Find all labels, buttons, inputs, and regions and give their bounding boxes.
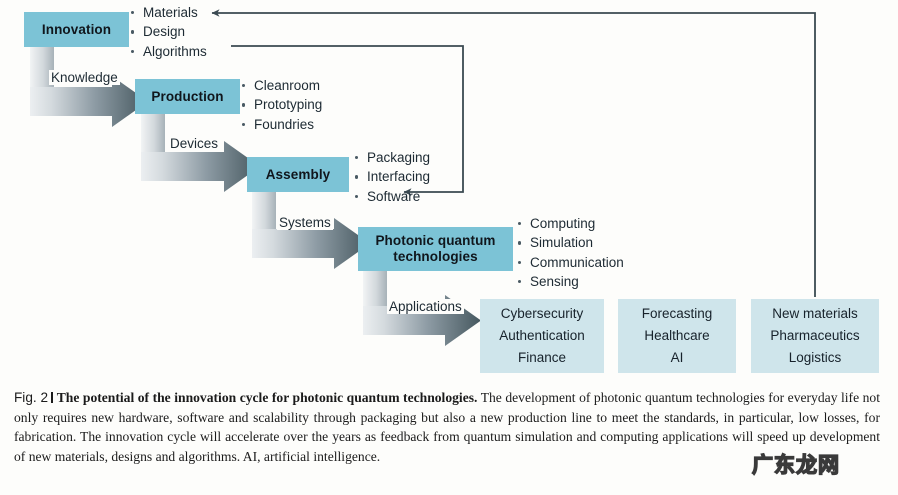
application-line: Pharmaceutics [770,325,859,347]
bullet-item: Design [131,22,207,41]
bullet-item: Materials [131,3,207,22]
application-box-forecasting[interactable]: Forecasting Healthcare AI [618,299,736,373]
application-line: Authentication [499,325,585,347]
stage-box-assembly[interactable]: Assembly [247,157,349,192]
application-line: Healthcare [644,325,709,347]
application-box-cybersecurity[interactable]: Cybersecurity Authentication Finance [480,299,604,373]
application-line: AI [671,347,684,369]
caption-lede: The potential of the innovation cycle fo… [57,390,478,405]
flow-label-applications: Applications [387,299,464,314]
stage-label-photonic-line1: Photonic quantum [375,233,495,249]
application-line: Cybersecurity [501,303,584,325]
bullet-item: Cleanroom [242,76,322,95]
bullet-list-photonic: Computing Simulation Communication Sensi… [518,214,624,291]
flow-label-devices: Devices [168,136,220,151]
stage-label-assembly: Assembly [266,167,331,183]
stage-box-production[interactable]: Production [135,79,240,114]
flow-label-systems: Systems [277,215,333,230]
bullet-list-assembly: Packaging Interfacing Software [355,148,430,206]
stage-box-photonic-quantum-technologies[interactable]: Photonic quantum technologies [358,227,513,271]
figure-page: Innovation Production Assembly Photonic … [0,0,898,495]
bullet-item: Computing [518,214,624,233]
bullet-item: Packaging [355,148,430,167]
application-box-new-materials[interactable]: New materials Pharmaceutics Logistics [751,299,879,373]
bullet-item: Software [355,187,430,206]
bullet-item: Sensing [518,272,624,291]
application-line: Forecasting [642,303,713,325]
application-line: Finance [518,347,566,369]
figure-number: Fig. 2 [14,390,48,405]
bullet-item: Algorithms [131,42,207,61]
stage-label-photonic-line2: technologies [393,249,477,265]
arrow-systems [252,191,370,269]
bullet-item: Simulation [518,233,624,252]
application-line: New materials [772,303,858,325]
figure-caption: Fig. 2The potential of the innovation cy… [14,388,880,466]
stage-label-innovation: Innovation [42,22,111,38]
application-line: Logistics [789,347,842,369]
bullet-item: Interfacing [355,167,430,186]
bullet-list-production: Cleanroom Prototyping Foundries [242,76,322,134]
bullet-item: Communication [518,253,624,272]
flow-label-knowledge: Knowledge [49,70,120,85]
innovation-cycle-diagram: Innovation Production Assembly Photonic … [0,0,898,382]
bullet-item: Foundries [242,115,322,134]
bullet-item: Prototyping [242,95,322,114]
stage-box-innovation[interactable]: Innovation [24,12,129,47]
bullet-list-innovation: Materials Design Algorithms [131,3,207,61]
caption-rule [51,392,53,403]
stage-label-production: Production [151,89,223,105]
